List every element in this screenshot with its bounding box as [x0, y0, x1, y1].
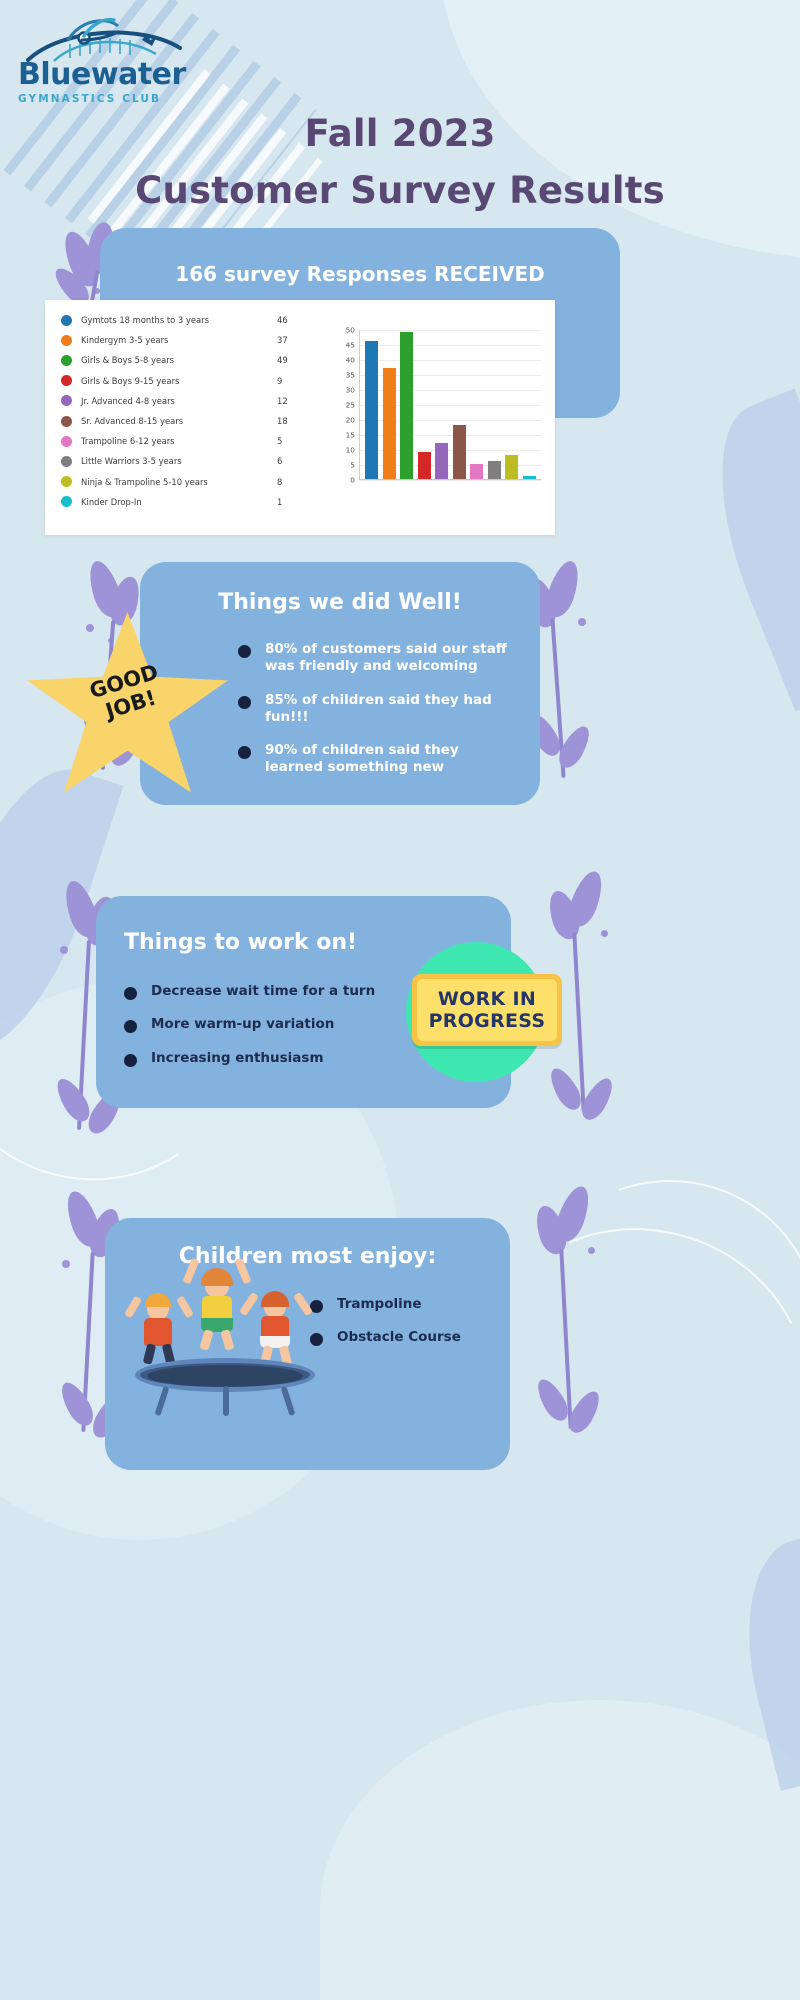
- bullet-dot-icon: [238, 645, 251, 658]
- bullet-item: Obstacle Course: [310, 1329, 495, 1346]
- bullet-label: Decrease wait time for a turn: [151, 983, 375, 1000]
- bullet-label: 90% of children said they learned someth…: [265, 742, 512, 777]
- good-job-badge: GOOD JOB!: [25, 612, 230, 802]
- legend-row: Gymtots 18 months to 3 years46: [61, 310, 301, 330]
- bar: [400, 332, 413, 479]
- page-title-line1: Fall 2023: [0, 112, 800, 155]
- legend-label: Kindergym 3-5 years: [81, 335, 277, 345]
- bullet-item: 90% of children said they learned someth…: [238, 742, 512, 777]
- brand-tagline: GYMNASTICS CLUB: [18, 93, 208, 105]
- legend-label: Gymtots 18 months to 3 years: [81, 315, 277, 325]
- y-axis-tick-label: 40: [333, 356, 355, 365]
- legend-label: Jr. Advanced 4-8 years: [81, 396, 277, 406]
- bar: [365, 341, 378, 479]
- bullet-item: Trampoline: [310, 1296, 495, 1313]
- wip-line1: WORK IN: [438, 988, 536, 1010]
- bar: [435, 443, 448, 479]
- legend-value: 6: [277, 456, 301, 466]
- y-axis-tick-label: 30: [333, 386, 355, 395]
- kids-jumping-on-trampoline-illustration: [125, 1258, 325, 1418]
- bullet-label: 80% of customers said our staff was frie…: [265, 641, 512, 676]
- bar-chart: 05101520253035404550: [333, 325, 543, 510]
- y-axis-tick-label: 45: [333, 341, 355, 350]
- legend-value: 9: [277, 376, 301, 386]
- trampoline-mat: [147, 1365, 303, 1387]
- legend-value: 37: [277, 335, 301, 345]
- legend-row: Little Warriors 3-5 years6: [61, 451, 301, 471]
- bar: [505, 455, 518, 479]
- bullet-dot-icon: [238, 696, 251, 709]
- legend-value: 8: [277, 477, 301, 487]
- trampoline-leg-center: [223, 1386, 229, 1416]
- bullet-label: Increasing enthusiasm: [151, 1050, 324, 1067]
- survey-responses-heading: 166 survey Responses RECEIVED: [100, 228, 620, 286]
- bar: [383, 368, 396, 479]
- y-axis-tick-label: 5: [333, 461, 355, 470]
- bar: [488, 461, 501, 479]
- legend-label: Girls & Boys 9-15 years: [81, 376, 277, 386]
- bullet-label: More warm-up variation: [151, 1016, 334, 1033]
- background-leaf-right: [683, 388, 800, 711]
- background-wave-bottom-right: [320, 1700, 800, 2000]
- bullet-dot-icon: [124, 1020, 137, 1033]
- y-axis-tick-label: 50: [333, 326, 355, 335]
- legend-swatch: [61, 315, 72, 326]
- background-swirl-1: [471, 1131, 800, 1530]
- y-axis-ticks: 05101520253035404550: [333, 330, 355, 480]
- work-in-progress-badge: WORK IN PROGRESS: [400, 942, 566, 1082]
- chart-legend: Gymtots 18 months to 3 years46Kindergym …: [61, 310, 301, 512]
- bar: [418, 452, 431, 479]
- bullet-label: 85% of children said they had fun!!!: [265, 692, 512, 727]
- trampoline-leg-right: [281, 1386, 296, 1416]
- legend-swatch: [61, 355, 72, 366]
- legend-row: Trampoline 6-12 years5: [61, 431, 301, 451]
- plot-area: [359, 330, 541, 480]
- legend-swatch: [61, 456, 72, 467]
- legend-row: Girls & Boys 9-15 years9: [61, 371, 301, 391]
- y-axis-tick-label: 20: [333, 416, 355, 425]
- infographic-page: Bluewater GYMNASTICS CLUB Fall 2023 Cust…: [0, 0, 800, 2000]
- y-axis-tick-label: 25: [333, 401, 355, 410]
- legend-value: 18: [277, 416, 301, 426]
- legend-swatch: [61, 476, 72, 487]
- legend-label: Trampoline 6-12 years: [81, 436, 277, 446]
- legend-label: Ninja & Trampoline 5-10 years: [81, 477, 277, 487]
- legend-row: Ninja & Trampoline 5-10 years8: [61, 472, 301, 492]
- legend-swatch: [61, 375, 72, 386]
- y-axis-tick-label: 0: [333, 476, 355, 485]
- legend-row: Sr. Advanced 8-15 years18: [61, 411, 301, 431]
- bullet-item: 85% of children said they had fun!!!: [238, 692, 512, 727]
- bar: [453, 425, 466, 479]
- bullet-label: Trampoline: [337, 1296, 422, 1313]
- legend-swatch: [61, 436, 72, 447]
- wip-sign-plate: WORK IN PROGRESS: [412, 974, 562, 1046]
- bullet-dot-icon: [124, 987, 137, 1000]
- bullet-dot-icon: [238, 746, 251, 759]
- legend-label: Kinder Drop-In: [81, 497, 277, 507]
- gymnast-bridge-logo-icon: [22, 14, 212, 66]
- legend-row: Girls & Boys 5-8 years49: [61, 350, 301, 370]
- bullet-item: 80% of customers said our staff was frie…: [238, 641, 512, 676]
- things-done-well-title: Things we did Well!: [140, 562, 540, 615]
- wip-line2: PROGRESS: [429, 1010, 546, 1032]
- legend-value: 12: [277, 396, 301, 406]
- survey-chart-card: Gymtots 18 months to 3 years46Kindergym …: [45, 300, 555, 535]
- bullet-label: Obstacle Course: [337, 1329, 461, 1346]
- legend-row: Jr. Advanced 4-8 years12: [61, 391, 301, 411]
- background-leaf-bottom-right: [723, 1529, 800, 1791]
- wip-sign-inner: WORK IN PROGRESS: [417, 979, 557, 1041]
- kid-right: [249, 1290, 303, 1366]
- page-title: Fall 2023 Customer Survey Results: [0, 112, 800, 212]
- bullet-dot-icon: [124, 1054, 137, 1067]
- kid-center: [187, 1262, 247, 1350]
- legend-row: Kinder Drop-In1: [61, 492, 301, 512]
- bar: [523, 476, 536, 479]
- y-axis-tick-label: 35: [333, 371, 355, 380]
- legend-value: 46: [277, 315, 301, 325]
- brand-logo: Bluewater GYMNASTICS CLUB: [18, 14, 208, 100]
- legend-swatch: [61, 335, 72, 346]
- y-axis-tick-label: 15: [333, 431, 355, 440]
- children-most-enjoy-bullets: TrampolineObstacle Course: [310, 1296, 495, 1363]
- legend-label: Sr. Advanced 8-15 years: [81, 416, 277, 426]
- legend-swatch: [61, 416, 72, 427]
- legend-value: 5: [277, 436, 301, 446]
- page-title-line2: Customer Survey Results: [0, 169, 800, 212]
- legend-row: Kindergym 3-5 years37: [61, 330, 301, 350]
- legend-label: Little Warriors 3-5 years: [81, 456, 277, 466]
- legend-swatch: [61, 395, 72, 406]
- bar-series: [360, 330, 541, 479]
- y-axis-tick-label: 10: [333, 446, 355, 455]
- legend-label: Girls & Boys 5-8 years: [81, 355, 277, 365]
- legend-swatch: [61, 496, 72, 507]
- bar: [470, 464, 483, 479]
- legend-value: 1: [277, 497, 301, 507]
- kid-left: [133, 1292, 185, 1364]
- trampoline-leg-left: [155, 1386, 170, 1416]
- gridline: [360, 480, 541, 481]
- legend-value: 49: [277, 355, 301, 365]
